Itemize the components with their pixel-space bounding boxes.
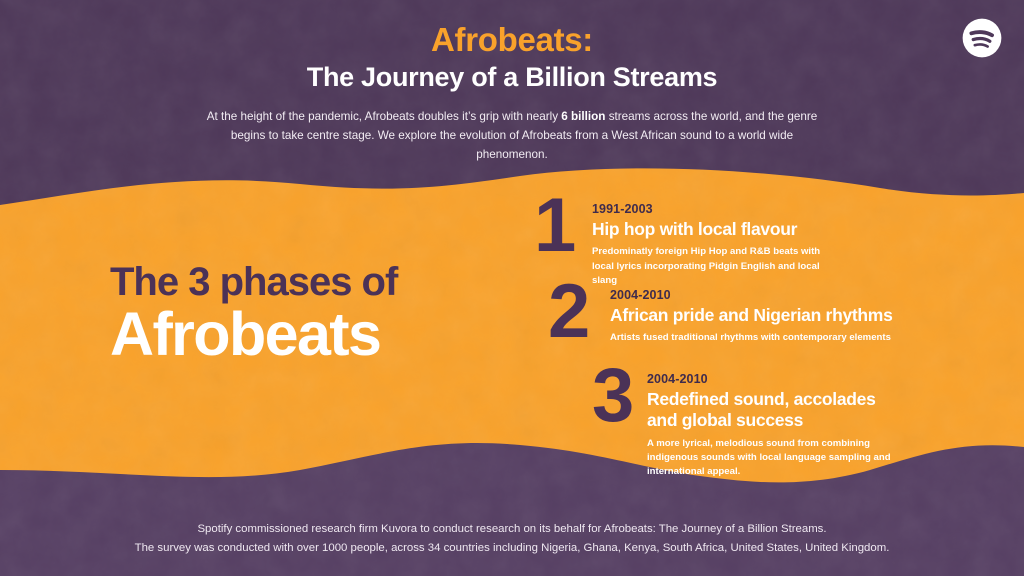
intro-text-part1: At the height of the pandemic, Afrobeats… [207, 110, 562, 123]
spotify-logo-icon [962, 18, 1002, 58]
phase-content: 1991-2003 Hip hop with local flavour Pre… [592, 196, 840, 289]
phase-item-3: 3 2004-2010 Redefined sound, accolades a… [592, 366, 922, 480]
phase-years: 1991-2003 [592, 202, 840, 217]
header-block: Afrobeats: The Journey of a Billion Stre… [0, 22, 1024, 165]
phases-heading-line2: Afrobeats [110, 304, 397, 365]
phases-heading-line1: The 3 phases of [110, 262, 397, 302]
phase-description: A more lyrical, melodious sound from com… [647, 437, 922, 480]
phase-number: 1 [534, 196, 592, 257]
phase-title: Redefined sound, accolades and global su… [647, 389, 877, 432]
phase-number: 2 [548, 282, 610, 343]
phases-heading: The 3 phases of Afrobeats [110, 262, 397, 365]
page-subtitle: The Journey of a Billion Streams [0, 61, 1024, 95]
phase-content: 2004-2010 Redefined sound, accolades and… [647, 366, 922, 480]
phase-number: 3 [592, 366, 647, 427]
phase-years: 2004-2010 [610, 288, 910, 303]
phase-title: African pride and Nigerian rhythms [610, 305, 910, 326]
phase-description: Artists fused traditional rhythms with c… [610, 331, 910, 345]
phase-item-2: 2 2004-2010 African pride and Nigerian r… [548, 282, 910, 346]
intro-highlight: 6 billion [561, 110, 605, 123]
footer-disclaimer: Spotify commissioned research firm Kuvor… [0, 520, 1024, 559]
phase-years: 2004-2010 [647, 372, 922, 387]
phase-content: 2004-2010 African pride and Nigerian rhy… [610, 282, 910, 346]
phase-title: Hip hop with local flavour [592, 219, 840, 240]
infographic-canvas: Afrobeats: The Journey of a Billion Stre… [0, 0, 1024, 576]
intro-paragraph: At the height of the pandemic, Afrobeats… [196, 108, 828, 165]
page-title: Afrobeats: [0, 22, 1024, 59]
footer-line-1: Spotify commissioned research firm Kuvor… [0, 520, 1024, 540]
footer-line-2: The survey was conducted with over 1000 … [0, 539, 1024, 559]
